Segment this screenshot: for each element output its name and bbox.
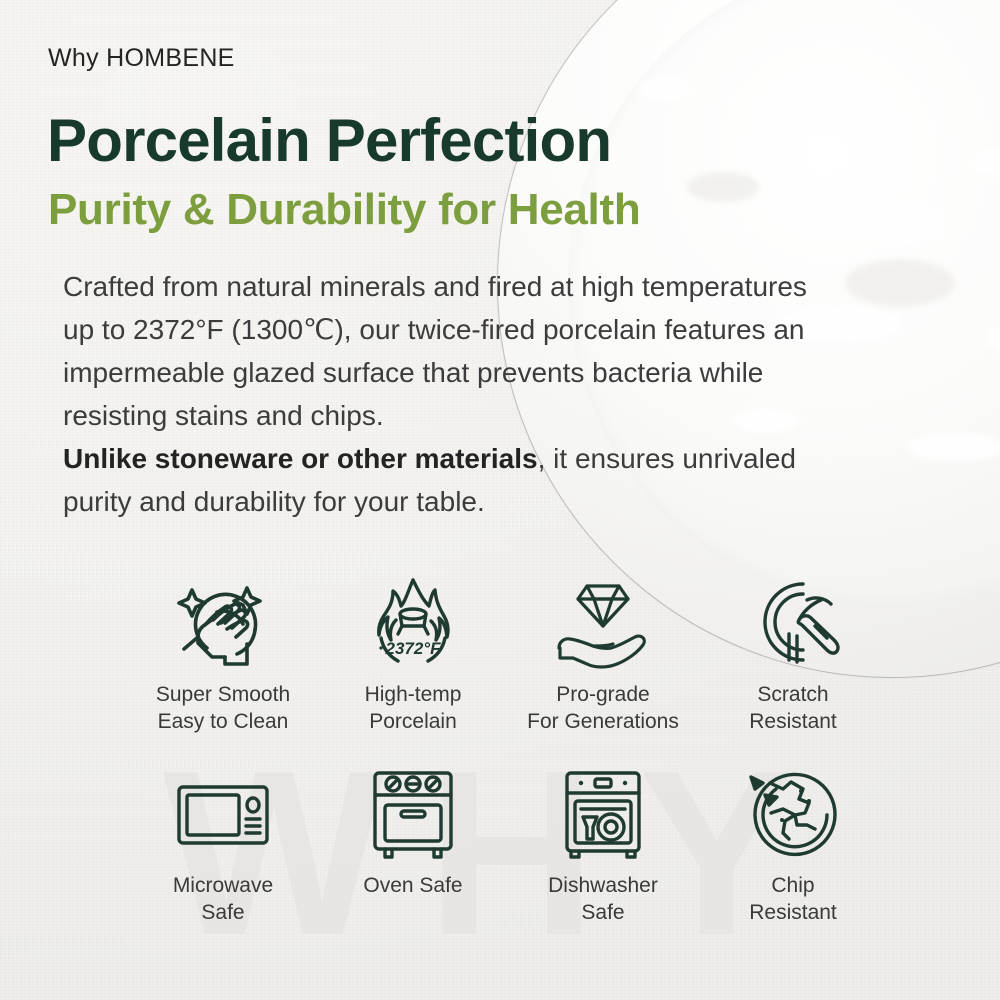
feature-oven-safe[interactable]: Oven Safe [318,767,508,926]
feature-label: Dishwasher Safe [548,872,658,926]
p2-line-2: purity and durability for your table. [63,486,485,517]
diamond-over-hand-icon [549,576,657,671]
feature-microwave-safe[interactable]: Microwave Safe [128,767,318,926]
feature-super-smooth[interactable]: Super Smooth Easy to Clean [128,576,318,735]
page-title: Porcelain Perfection [47,106,611,175]
feature-high-temp[interactable]: 2372°F High-temp Porcelain [318,576,508,735]
glaze-speckle [987,323,1000,355]
promo-banner: WHY Why HOMBENE Porcelain Perfection Pur… [0,0,1000,1000]
eyebrow-label: Why HOMBENE [48,44,235,73]
p2-bold-lead: Unlike stoneware or other materials [63,443,538,474]
glaze-shadow [687,172,759,202]
feature-row-1: Super Smooth Easy to Clean 2372°F [128,576,888,735]
sparkle-hand-wiping-plate-icon [171,576,275,671]
feature-grid: Super Smooth Easy to Clean 2372°F [0,576,1000,926]
body-copy: Crafted from natural minerals and fired … [63,265,953,523]
flame-temperature-text: 2372°F [384,639,441,658]
feature-dishwasher-safe[interactable]: Dishwasher Safe [508,767,698,926]
flame-with-bowl-icon: 2372°F [361,576,465,671]
feature-scratch-resistant[interactable]: Scratch Resistant [698,576,888,735]
p1-line-3: impermeable glazed surface that prevents… [63,357,763,388]
dishwasher-icon [553,767,653,862]
feature-label: High-temp Porcelain [365,681,462,735]
glaze-speckle [860,204,946,244]
page-subtitle: Purity & Durability for Health [48,185,640,235]
oven-icon [363,767,463,862]
p1-line-2: up to 2372°F (1300℃), our twice-fired po… [63,314,804,345]
feature-row-2: Microwave Safe [128,767,888,926]
feature-pro-grade[interactable]: Pro-grade For Generations [508,576,698,735]
microwave-icon [171,767,275,862]
feature-label: Oven Safe [363,872,462,899]
glaze-speckle [971,149,1000,175]
p1-line-1: Crafted from natural minerals and fired … [63,271,807,302]
feature-label: Super Smooth Easy to Clean [156,681,290,735]
paragraph-1: Crafted from natural minerals and fired … [63,265,953,437]
feature-label: Chip Resistant [749,872,837,926]
paragraph-2: Unlike stoneware or other materials, it … [63,437,953,523]
feature-label: Scratch Resistant [749,681,837,735]
feature-label: Pro-grade For Generations [527,681,679,735]
feature-chip-resistant[interactable]: Chip Resistant [698,767,888,926]
chipped-plate-icon [743,767,843,862]
feature-label: Microwave Safe [173,872,273,926]
p1-line-4: resisting stains and chips. [63,400,384,431]
p2-rest: , it ensures unrivaled [538,443,796,474]
glaze-speckle [639,78,693,100]
knife-on-plate-icon [741,576,845,671]
